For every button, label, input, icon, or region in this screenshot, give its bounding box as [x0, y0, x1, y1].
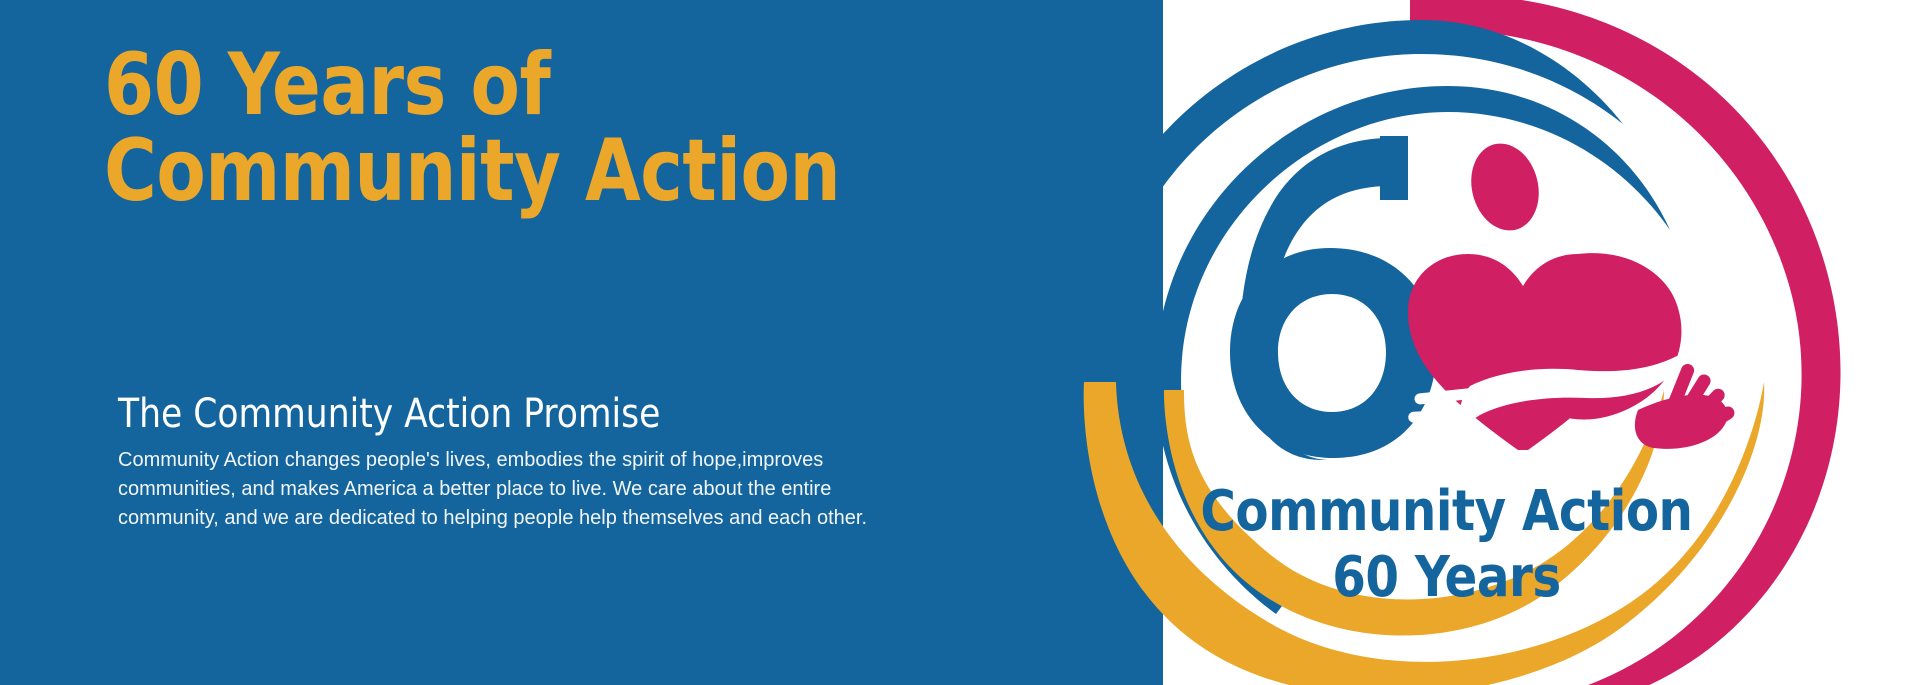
- logo-area: Community Action 60 Years: [1163, 0, 1912, 685]
- page-title: 60 Years of Community Action: [104, 42, 941, 214]
- promise-block: The Community Action Promise Community A…: [118, 392, 938, 533]
- logo-wordmark-line-2: 60 Years: [1332, 544, 1560, 609]
- logo-wordmark-line-1: Community Action: [1200, 478, 1692, 543]
- promise-heading: The Community Action Promise: [118, 392, 905, 436]
- slide-root: 60 Years of Community Action The Communi…: [0, 0, 1912, 685]
- person-head: [1462, 136, 1547, 237]
- heart-people-mark: [1408, 136, 1737, 463]
- promise-body-text: Community Action changes people's lives,…: [118, 446, 918, 533]
- community-action-60-years-logo: Community Action 60 Years: [978, 0, 1898, 685]
